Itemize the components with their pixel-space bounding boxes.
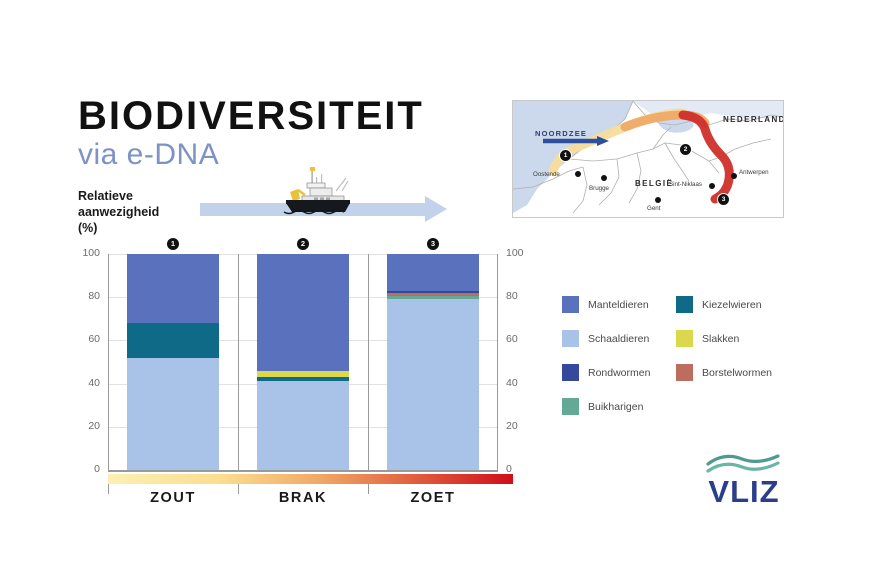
bar-segment-kiezelwieren[interactable] [257,377,349,381]
legend-item-schaaldieren[interactable]: Schaaldieren [562,330,649,347]
legend-swatch-manteldieren [562,296,579,313]
category-label-brak: BRAK [233,490,373,506]
x-axis-line [108,470,498,472]
city-dot-brugge [601,175,607,181]
y-axis-tick-right: 80 [506,290,532,302]
legend-label: Manteldieren [588,299,649,311]
y-axis-caption-line2: aanwezigheid [78,204,159,220]
city-dot-sintniklaas [709,183,715,189]
bar-segment-manteldieren[interactable] [387,254,479,291]
city-dot-gent [655,197,661,203]
legend-item-buikharigen[interactable]: Buikharigen [562,398,643,415]
right-arrow-head-icon [425,196,447,222]
bar-segment-schaaldieren[interactable] [257,381,349,470]
legend-swatch-slakken [676,330,693,347]
legend-label: Schaaldieren [588,333,649,345]
y-axis-tick-left: 80 [74,290,100,302]
y-axis-tick-left: 40 [74,377,100,389]
city-label-antwerpen: Antwerpen [739,169,769,176]
legend-swatch-kiezelwieren [676,296,693,313]
y-axis-tick-right: 40 [506,377,532,389]
legend-item-slakken[interactable]: Slakken [676,330,739,347]
legend-label: Slakken [702,333,739,345]
y-axis-tick-left: 60 [74,333,100,345]
panel-separator [368,254,369,470]
bar-segment-manteldieren[interactable] [257,254,349,371]
y-axis-caption-line1: Relatieve [78,188,159,204]
city-label-gent: Gent [647,205,660,212]
y-axis-line-right [497,254,498,470]
station-marker-3[interactable]: 3 [427,238,439,250]
bar-brak[interactable] [257,254,349,470]
y-axis-caption-line3: (%) [78,220,159,236]
category-label-zoet: ZOET [363,490,503,506]
category-tick [238,484,239,494]
bar-zoet[interactable] [387,254,479,470]
category-label-zout: ZOUT [103,490,243,506]
vliz-logo[interactable]: VLIZ [694,448,794,510]
vliz-logo-text: VLIZ [694,474,794,510]
city-label-sintniklaas: Sint-Niklaas [669,181,702,188]
y-axis-caption: Relatieve aanwezigheid (%) [78,188,159,236]
bar-segment-slakken[interactable] [257,371,349,377]
map-label-sea: NOORDZEE [535,129,587,138]
y-axis-tick-right: 20 [506,420,532,432]
study-area-map[interactable]: NOORDZEE NEDERLAND BELGIË Oostende Brugg… [512,100,784,218]
legend-label: Rondwormen [588,367,650,379]
y-axis-tick-right: 60 [506,333,532,345]
bar-segment-schaaldieren[interactable] [127,358,219,470]
bar-segment-kiezelwieren[interactable] [127,323,219,358]
y-axis-tick-left: 100 [74,247,100,259]
legend-label: Kiezelwieren [702,299,762,311]
legend-item-manteldieren[interactable]: Manteldieren [562,296,649,313]
bar-segment-schaaldieren[interactable] [387,299,479,470]
legend-item-borstelwormen[interactable]: Borstelwormen [676,364,772,381]
research-vessel-icon [280,165,372,220]
bar-segment-rondwormen[interactable] [387,291,479,293]
city-dot-oostende [575,171,581,177]
wave-icon [694,448,794,474]
legend-item-rondwormen[interactable]: Rondwormen [562,364,650,381]
page-title: BIODIVERSITEIT [78,96,424,136]
city-dot-antwerpen [731,173,737,179]
legend-item-kiezelwieren[interactable]: Kiezelwieren [676,296,762,313]
map-marker-1[interactable]: 1 [559,149,572,162]
legend-label: Borstelwormen [702,367,772,379]
legend-swatch-borstelwormen [676,364,693,381]
y-axis-tick-left: 0 [74,463,100,475]
city-label-oostende: Oostende [533,171,560,178]
legend-swatch-rondwormen [562,364,579,381]
category-tick [108,484,109,494]
panel-separator [238,254,239,470]
map-marker-2[interactable]: 2 [679,143,692,156]
bar-zout[interactable] [127,254,219,470]
salinity-gradient-arrow [200,165,455,227]
legend-swatch-buikharigen [562,398,579,415]
legend-label: Buikharigen [588,401,643,413]
bar-segment-manteldieren[interactable] [127,254,219,323]
map-marker-3[interactable]: 3 [717,193,730,206]
title-block: BIODIVERSITEIT via e-DNA [78,96,424,170]
stacked-bar-chart: 002020404060608080100100123 [78,237,533,487]
map-label-belgie: BELGIË [635,179,673,188]
y-axis-tick-left: 20 [74,420,100,432]
y-axis-line-left [108,254,109,470]
station-marker-2[interactable]: 2 [297,238,309,250]
category-tick [368,484,369,494]
bar-segment-borstelwormen[interactable] [387,293,479,296]
map-label-nederland: NEDERLAND [723,115,784,124]
city-label-brugge: Brugge [589,185,609,192]
y-axis-tick-right: 100 [506,247,532,259]
chart-plot-area [108,254,498,470]
station-marker-1[interactable]: 1 [167,238,179,250]
bar-segment-buikharigen[interactable] [387,296,479,299]
salinity-gradient-bar [108,474,513,484]
legend-swatch-schaaldieren [562,330,579,347]
